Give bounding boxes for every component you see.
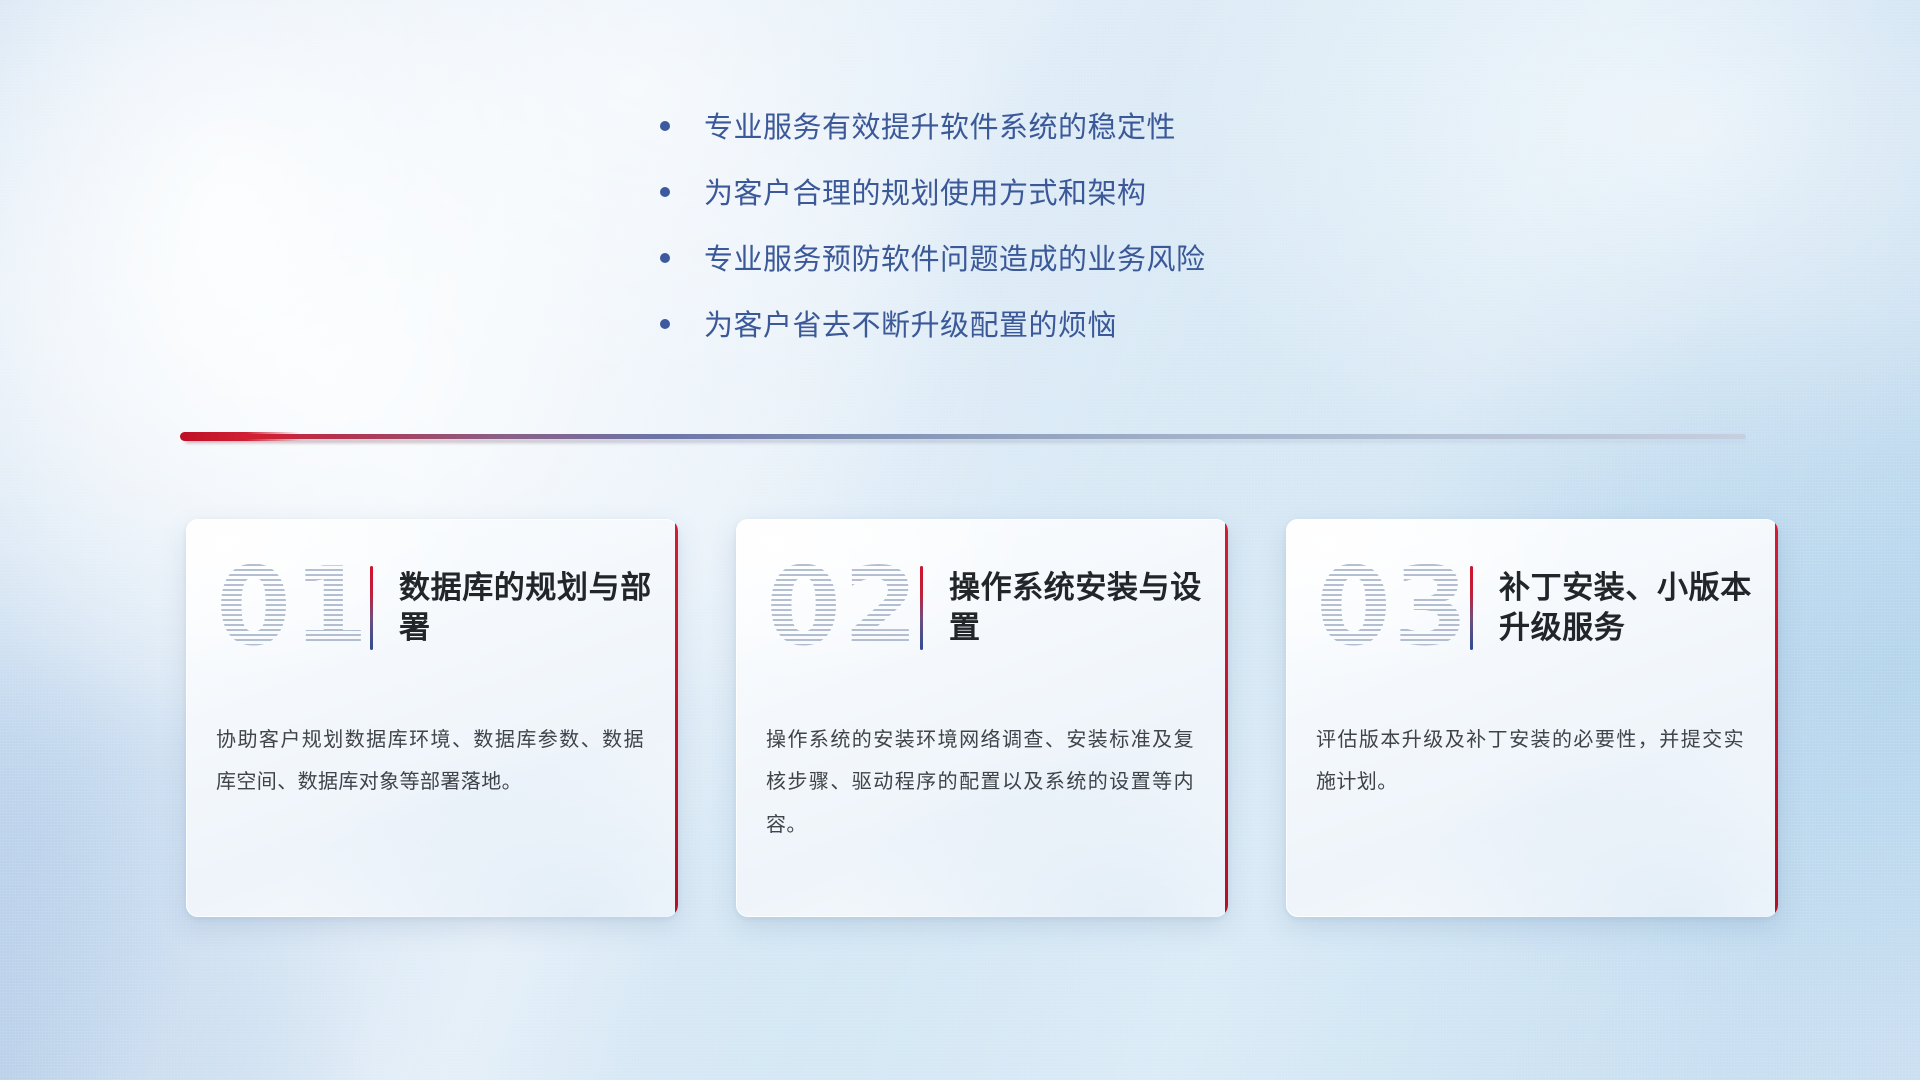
card-accent-rule [370,566,373,650]
card-header: 01 数据库的规划与部署 [186,519,678,697]
bullet-text: 专业服务预防软件问题造成的业务风险 [704,242,1206,279]
card-title: 操作系统安装与设置 [949,568,1228,649]
service-card-03[interactable]: 03 补丁安装、小版本升级服务 评估版本升级及补丁安装的必要性，并提交实施计划。 [1286,519,1778,917]
slide-canvas: 专业服务有效提升软件系统的稳定性 为客户合理的规划使用方式和架构 专业服务预防软… [0,0,1920,1080]
divider-shadow [186,439,1746,443]
bullet-text: 为客户省去不断升级配置的烦恼 [704,308,1117,345]
divider-red-tip [180,432,300,441]
list-item: 为客户省去不断升级配置的烦恼 [660,308,1420,345]
bullet-text: 专业服务有效提升软件系统的稳定性 [704,110,1176,147]
card-description: 评估版本升级及补丁安装的必要性，并提交实施计划。 [1316,719,1744,804]
card-number-watermark: 03 [1316,554,1464,662]
card-accent-rule [1470,566,1473,650]
card-header: 03 补丁安装、小版本升级服务 [1286,519,1778,697]
benefits-bullet-list: 专业服务有效提升软件系统的稳定性 为客户合理的规划使用方式和架构 专业服务预防软… [660,110,1420,374]
card-number-watermark: 01 [216,554,364,662]
list-item: 为客户合理的规划使用方式和架构 [660,176,1420,213]
card-header: 02 操作系统安装与设置 [736,519,1228,697]
divider-bar [186,434,1746,439]
service-card-list: 01 数据库的规划与部署 协助客户规划数据库环境、数据库参数、数据库空间、数据库… [186,519,1778,917]
card-description: 操作系统的安装环境网络调查、安装标准及复核步骤、驱动程序的配置以及系统的设置等内… [766,719,1194,846]
service-card-02[interactable]: 02 操作系统安装与设置 操作系统的安装环境网络调查、安装标准及复核步骤、驱动程… [736,519,1228,917]
bullet-dot-icon [660,187,670,197]
card-number-watermark: 02 [766,554,914,662]
card-title: 补丁安装、小版本升级服务 [1499,568,1778,649]
bullet-dot-icon [660,253,670,263]
list-item: 专业服务预防软件问题造成的业务风险 [660,242,1420,279]
bullet-dot-icon [660,319,670,329]
service-card-01[interactable]: 01 数据库的规划与部署 协助客户规划数据库环境、数据库参数、数据库空间、数据库… [186,519,678,917]
card-description: 协助客户规划数据库环境、数据库参数、数据库空间、数据库对象等部署落地。 [216,719,644,804]
card-accent-rule [920,566,923,650]
bullet-text: 为客户合理的规划使用方式和架构 [704,176,1147,213]
bullet-dot-icon [660,121,670,131]
list-item: 专业服务有效提升软件系统的稳定性 [660,110,1420,147]
section-divider [186,431,1746,445]
card-title: 数据库的规划与部署 [399,568,678,649]
